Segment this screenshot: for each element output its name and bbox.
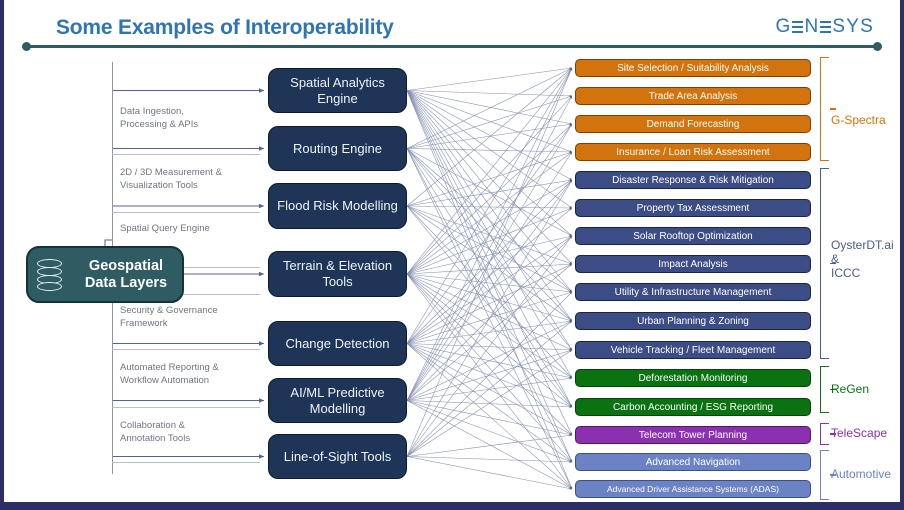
engine-box-label: Spatial Analytics Engine [274,75,401,107]
logo-e-bar-icon-2 [820,21,831,34]
capability-item[interactable]: Security & GovernanceFramework [120,305,260,330]
engine-box-label: Line-of-Sight Tools [284,449,391,465]
slide-canvas: Some Examples of Interoperability G N SY… [0,0,904,510]
logo-text-mid: N [804,16,819,38]
center-node-label: GeospatialData Layers [70,258,182,292]
outcome-box-label: Advanced Driver Assistance Systems (ADAS… [607,484,779,494]
logo-text-start: G [775,16,791,38]
outcome-box[interactable]: Utility & Infrastructure Management [575,283,811,301]
capability-item[interactable]: Automated Reporting &Workflow Automation [120,362,260,387]
capability-separator [112,212,260,213]
logo-e-bar-icon [792,21,803,34]
group-label: OysterDT.ai&ICCC [831,238,894,280]
outcome-box[interactable]: Vehicle Tracking / Fleet Management [575,341,811,359]
engine-box[interactable]: Change Detection [268,321,407,366]
genesys-logo: G N SYS [775,16,874,38]
engine-box-label: Change Detection [285,336,389,352]
outcome-box-label: Disaster Response & Risk Mitigation [612,175,774,186]
capability-item[interactable]: Spatial Query Engine [120,223,260,236]
engine-box[interactable]: Routing Engine [268,126,407,171]
outcome-box-label: Carbon Accounting / ESG Reporting [613,402,773,413]
database-icon [37,259,64,291]
outcome-box[interactable]: Impact Analysis [575,255,811,273]
engine-box[interactable]: Spatial Analytics Engine [268,68,407,113]
outcome-box-label: Deforestation Monitoring [639,373,748,384]
outcome-box[interactable]: Trade Area Analysis [575,87,811,105]
engine-box[interactable]: Line-of-Sight Tools [268,434,407,479]
outcome-box-label: Demand Forecasting [647,119,740,130]
engine-box[interactable]: Terrain & Elevation Tools [268,251,407,297]
outcome-box[interactable]: Advanced Driver Assistance Systems (ADAS… [575,480,811,498]
outcome-box-label: Site Selection / Suitability Analysis [617,63,769,74]
group-label: Automotive [831,467,891,481]
group-label: ReGen [831,382,869,396]
engine-box-label: AI/ML Predictive Modelling [274,385,401,417]
outcome-box[interactable]: Advanced Navigation [575,453,811,471]
group-label: TeleScape [831,426,887,440]
capability-separator [112,154,260,155]
outcome-box[interactable]: Disaster Response & Risk Mitigation [575,171,811,189]
group-label: G-Spectra [831,113,886,127]
outcome-box[interactable]: Urban Planning & Zoning [575,312,811,330]
group-bracket [820,57,829,161]
header-divider-rule [26,45,878,48]
outcome-box-label: Vehicle Tracking / Fleet Management [611,345,776,356]
outcome-box-label: Telecom Tower Planning [639,430,747,441]
capability-item[interactable]: Collaboration &Annotation Tools [120,420,260,445]
outcome-box[interactable]: Property Tax Assessment [575,199,811,217]
group-bracket-nub [830,108,836,110]
capability-separator [112,349,260,350]
engine-box-label: Routing Engine [293,141,382,157]
engine-box-label: Terrain & Elevation Tools [274,258,401,290]
capability-separator [112,407,260,408]
bottom-band [4,502,900,510]
outcome-box[interactable]: Insurance / Loan Risk Assessment [575,143,811,161]
outcome-box-label: Utility & Infrastructure Management [615,287,772,298]
group-bracket [820,450,829,500]
capability-separator [112,462,260,463]
outcome-box[interactable]: Carbon Accounting / ESG Reporting [575,398,811,416]
outcome-box[interactable]: Deforestation Monitoring [575,369,811,387]
page-title: Some Examples of Interoperability [56,16,394,40]
capability-item[interactable]: Data Ingestion,Processing & APIs [120,106,260,131]
center-node-geospatial-data-layers[interactable]: GeospatialData Layers [26,246,184,303]
rule-dot-left-icon [22,42,31,51]
outcome-box-label: Solar Rooftop Optimization [633,231,753,242]
outcome-box-label: Advanced Navigation [646,457,741,468]
engine-box[interactable]: Flood Risk Modelling [268,183,407,229]
outcome-box-label: Urban Planning & Zoning [637,316,749,327]
group-bracket [820,168,829,359]
outcome-box-label: Insurance / Loan Risk Assessment [616,147,769,158]
outcome-box-label: Impact Analysis [658,259,727,270]
capability-item[interactable]: 2D / 3D Measurement &Visualization Tools [120,167,260,192]
outcome-box-label: Trade Area Analysis [649,91,738,102]
logo-text-end: SYS [832,16,874,38]
outcome-box[interactable]: Telecom Tower Planning [575,426,811,444]
engine-box-label: Flood Risk Modelling [277,198,398,214]
outcome-box[interactable]: Site Selection / Suitability Analysis [575,59,811,77]
group-bracket [820,366,829,413]
outcome-box[interactable]: Solar Rooftop Optimization [575,227,811,245]
engine-box[interactable]: AI/ML Predictive Modelling [268,378,407,423]
group-bracket [820,423,829,445]
outcome-box-label: Property Tax Assessment [637,203,750,214]
outcome-box[interactable]: Demand Forecasting [575,115,811,133]
rule-dot-right-icon [873,42,882,51]
